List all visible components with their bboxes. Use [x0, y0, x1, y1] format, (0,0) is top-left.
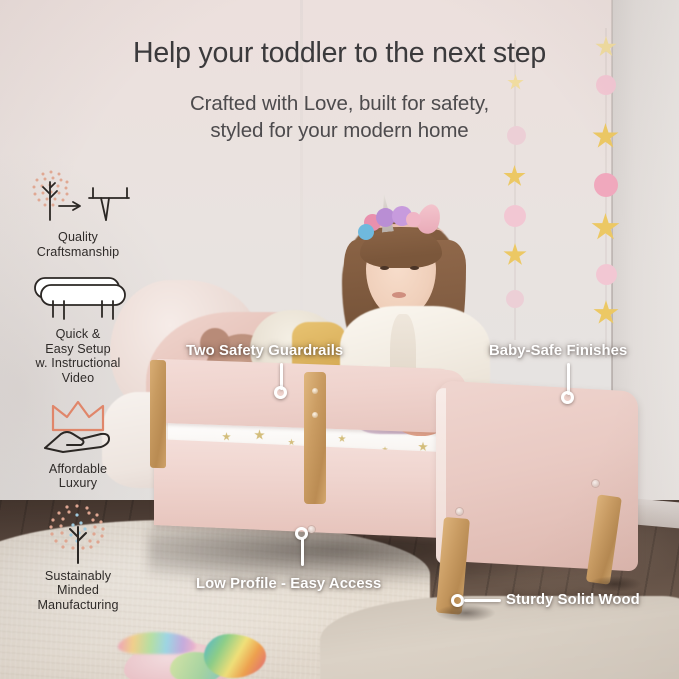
rainbow-plush-toy — [118, 626, 278, 679]
guardrail-post-left — [150, 360, 166, 469]
page-subtitle: Crafted with Love, built for safety, sty… — [0, 90, 679, 144]
feature-quality-craftsmanship: Quality Craftsmanship — [8, 168, 148, 259]
plush-rainbow-tail — [204, 634, 266, 678]
callout-two-safety-guardrails-label: Two Safety Guardrails — [186, 343, 343, 359]
tree-to-furniture-icon — [23, 168, 133, 226]
callout-low-profile-label: Low Profile - Easy Access — [196, 576, 381, 592]
frame-screw — [308, 526, 315, 533]
callout-baby-safe-finishes-label: Baby-Safe Finishes — [489, 343, 627, 359]
feature-affordable-luxury: Affordable Luxury — [8, 400, 148, 491]
child-mouth — [392, 292, 406, 298]
headband-flower — [358, 224, 374, 240]
star-garland-left — [498, 40, 532, 340]
garland-dot-icon — [594, 173, 618, 197]
feature-quick-easy-setup: Quick & Easy Setup w. Instructional Vide… — [8, 273, 148, 385]
feature-label: Quick & Easy Setup w. Instructional Vide… — [8, 327, 148, 385]
child-eye-left — [380, 266, 389, 270]
feature-list: Quality Craftsmanship Quick & Easy Setup… — [8, 168, 148, 613]
feature-label: Sustainably Minded Manufacturing — [8, 569, 148, 613]
garland-dot-icon — [504, 205, 526, 227]
callout-sturdy-solid-wood-dot — [451, 594, 464, 607]
callout-baby-safe-finishes-dot — [561, 391, 574, 404]
headboard-screw — [592, 480, 599, 487]
page-title: Help your toddler to the next step — [0, 36, 679, 70]
headband-flower — [406, 212, 421, 227]
garland-star-icon — [507, 74, 524, 91]
headboard-screw — [456, 508, 463, 515]
leg-shadow — [588, 576, 642, 592]
feature-label: Quality Craftsmanship — [8, 230, 148, 259]
garland-dot-icon — [596, 264, 617, 285]
crown-in-hand-icon — [23, 400, 133, 458]
child-eye-right — [410, 266, 419, 270]
dotted-tree-icon — [23, 503, 133, 565]
product-infographic: Help your toddler to the next step Craft… — [0, 0, 679, 679]
subtitle-line-2: styled for your modern home — [0, 117, 679, 144]
callout-sturdy-solid-wood-label: Sturdy Solid Wood — [506, 592, 640, 608]
post-screw — [312, 388, 318, 394]
callout-two-safety-guardrails-dot — [274, 386, 287, 399]
callout-sturdy-solid-wood-line — [464, 599, 501, 602]
post-screw — [312, 412, 318, 418]
callout-low-profile-line — [301, 538, 304, 566]
toddler-bed-icon — [23, 273, 133, 323]
leg-shadow — [436, 604, 496, 622]
feature-sustainably-minded: Sustainably Minded Manufacturing — [8, 503, 148, 613]
feature-label: Affordable Luxury — [8, 462, 148, 491]
subtitle-line-1: Crafted with Love, built for safety, — [0, 90, 679, 117]
plush-rainbow-stripe — [118, 632, 196, 654]
